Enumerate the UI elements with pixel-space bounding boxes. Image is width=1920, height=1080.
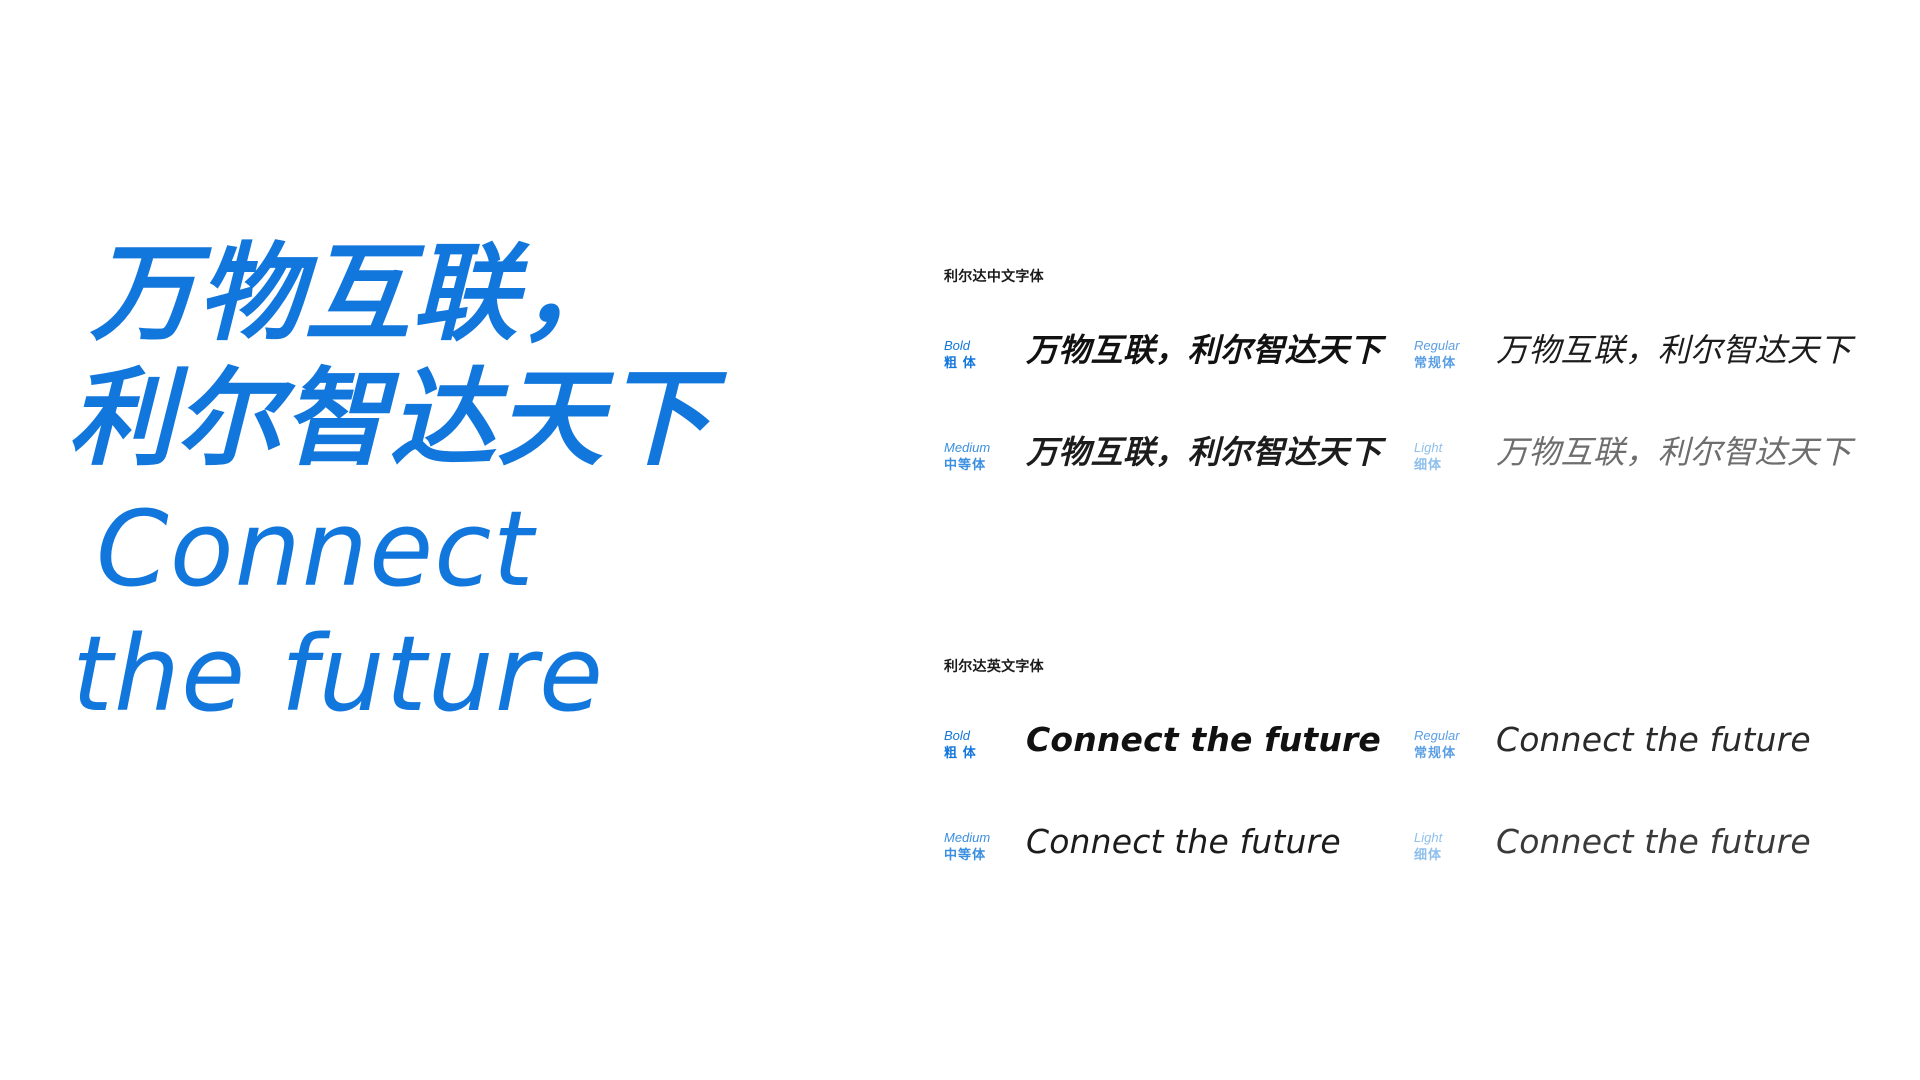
- specimen-panel: 利尔达中文字体 Bold 粗 体 万物互联，利尔智达天下 Regular 常规体…: [944, 266, 1864, 924]
- weight-sample-english-medium: Connect the future: [1026, 822, 1341, 862]
- weight-row-english-bold: Bold 粗 体 Connect the future: [944, 720, 1414, 822]
- section-heading-chinese: 利尔达中文字体: [944, 266, 1864, 286]
- weight-label-cn: 常规体: [1414, 355, 1476, 372]
- weight-label-en: Medium: [944, 440, 1006, 457]
- weight-label-regular: Regular 常规体: [1414, 720, 1476, 761]
- hero-chinese-line-2: 利尔智达天下: [68, 357, 870, 482]
- weight-row-chinese-light: Light 细体 万物互联，利尔智达天下: [1414, 432, 1884, 534]
- section-chinese-typeface: 利尔达中文字体 Bold 粗 体 万物互联，利尔智达天下 Regular 常规体…: [944, 266, 1864, 534]
- weight-label-bold: Bold 粗 体: [944, 720, 1006, 761]
- hero-english-line-2: the future: [72, 617, 870, 731]
- section-heading-english: 利尔达英文字体: [944, 656, 1864, 676]
- weight-row-chinese-bold: Bold 粗 体 万物互联，利尔智达天下: [944, 330, 1414, 432]
- weight-grid-english: Bold 粗 体 Connect the future Regular 常规体 …: [944, 720, 1864, 924]
- weight-label-cn: 细体: [1414, 457, 1476, 474]
- weight-label-cn: 细体: [1414, 847, 1476, 864]
- weight-label-en: Bold: [944, 728, 1006, 745]
- weight-row-chinese-medium: Medium 中等体 万物互联，利尔智达天下: [944, 432, 1414, 534]
- weight-sample-english-regular: Connect the future: [1496, 720, 1811, 760]
- weight-label-en: Light: [1414, 830, 1476, 847]
- hero-lockup: 万物互联， 利尔智达天下 Connect the future: [90, 232, 870, 731]
- weight-sample-english-light: Connect the future: [1496, 822, 1811, 862]
- typeface-specimen-page: 万物互联， 利尔智达天下 Connect the future 利尔达中文字体 …: [0, 0, 1920, 1080]
- weight-sample-chinese-regular: 万物互联，利尔智达天下: [1496, 330, 1852, 370]
- weight-label-cn: 中等体: [944, 847, 1006, 864]
- weight-row-english-medium: Medium 中等体 Connect the future: [944, 822, 1414, 924]
- weight-sample-chinese-light: 万物互联，利尔智达天下: [1496, 432, 1852, 472]
- hero-english-line-1: Connect: [96, 492, 870, 606]
- weight-row-english-light: Light 细体 Connect the future: [1414, 822, 1884, 924]
- weight-label-cn: 常规体: [1414, 745, 1476, 762]
- weight-label-en: Medium: [944, 830, 1006, 847]
- weight-sample-chinese-bold: 万物互联，利尔智达天下: [1026, 330, 1382, 370]
- weight-label-cn: 粗 体: [944, 355, 1006, 372]
- weight-sample-chinese-medium: 万物互联，利尔智达天下: [1026, 432, 1382, 472]
- weight-grid-chinese: Bold 粗 体 万物互联，利尔智达天下 Regular 常规体 万物互联，利尔…: [944, 330, 1864, 534]
- weight-label-bold: Bold 粗 体: [944, 330, 1006, 371]
- weight-label-cn: 粗 体: [944, 745, 1006, 762]
- weight-label-cn: 中等体: [944, 457, 1006, 474]
- weight-sample-english-bold: Connect the future: [1026, 720, 1381, 760]
- weight-label-en: Light: [1414, 440, 1476, 457]
- section-english-typeface: 利尔达英文字体 Bold 粗 体 Connect the future Regu…: [944, 656, 1864, 924]
- weight-label-en: Regular: [1414, 338, 1476, 355]
- weight-label-medium: Medium 中等体: [944, 822, 1006, 863]
- weight-label-en: Regular: [1414, 728, 1476, 745]
- weight-label-regular: Regular 常规体: [1414, 330, 1476, 371]
- weight-row-english-regular: Regular 常规体 Connect the future: [1414, 720, 1884, 822]
- weight-label-en: Bold: [944, 338, 1006, 355]
- hero-chinese-line-1: 万物互联，: [90, 232, 870, 357]
- weight-label-light: Light 细体: [1414, 822, 1476, 863]
- weight-row-chinese-regular: Regular 常规体 万物互联，利尔智达天下: [1414, 330, 1884, 432]
- weight-label-medium: Medium 中等体: [944, 432, 1006, 473]
- weight-label-light: Light 细体: [1414, 432, 1476, 473]
